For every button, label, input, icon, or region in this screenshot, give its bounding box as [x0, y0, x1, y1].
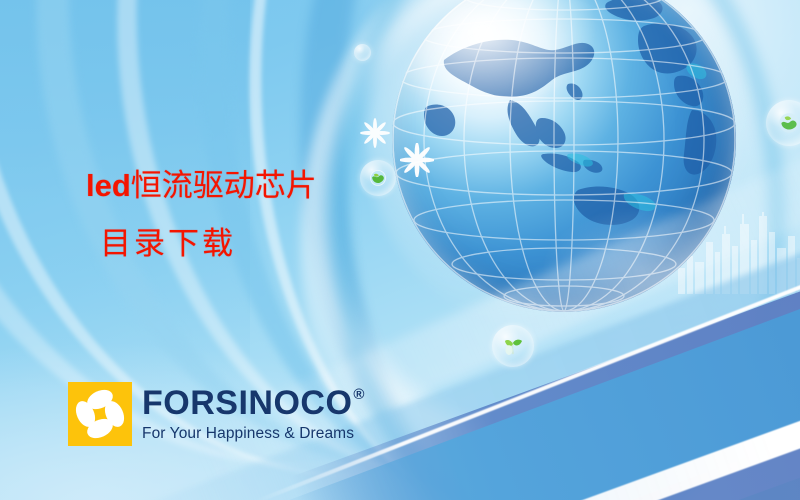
- registered-trademark-icon: ®: [353, 387, 365, 402]
- green-leaf-icon: [501, 334, 525, 358]
- logo-wordmark-text: FORSINOCO: [142, 386, 352, 420]
- bubble-with-leaf-icon: [492, 325, 534, 367]
- mini-globe-icon-right: [776, 110, 800, 136]
- headline-latin: led: [86, 168, 131, 203]
- headline-line-2: 目录下载: [100, 225, 506, 265]
- bubble-small-top: [354, 44, 371, 61]
- pinwheel-flower-icon: [68, 382, 132, 446]
- banner-image: led恒流驱动芯片 目录下载 FORSINOCO® For Your Happi…: [0, 0, 800, 500]
- headline-line-1: led恒流驱动芯片: [86, 166, 506, 207]
- logo-wordmark: FORSINOCO®: [142, 386, 365, 420]
- headline-text: led恒流驱动芯片 目录下载: [86, 166, 506, 264]
- white-flower-a: [360, 118, 390, 148]
- logo-text-block: FORSINOCO® For Your Happiness & Dreams: [142, 386, 365, 442]
- logo-tagline: For Your Happiness & Dreams: [142, 426, 365, 442]
- company-logo: FORSINOCO® For Your Happiness & Dreams: [68, 382, 365, 446]
- headline-chinese: 恒流驱动芯片: [131, 168, 317, 204]
